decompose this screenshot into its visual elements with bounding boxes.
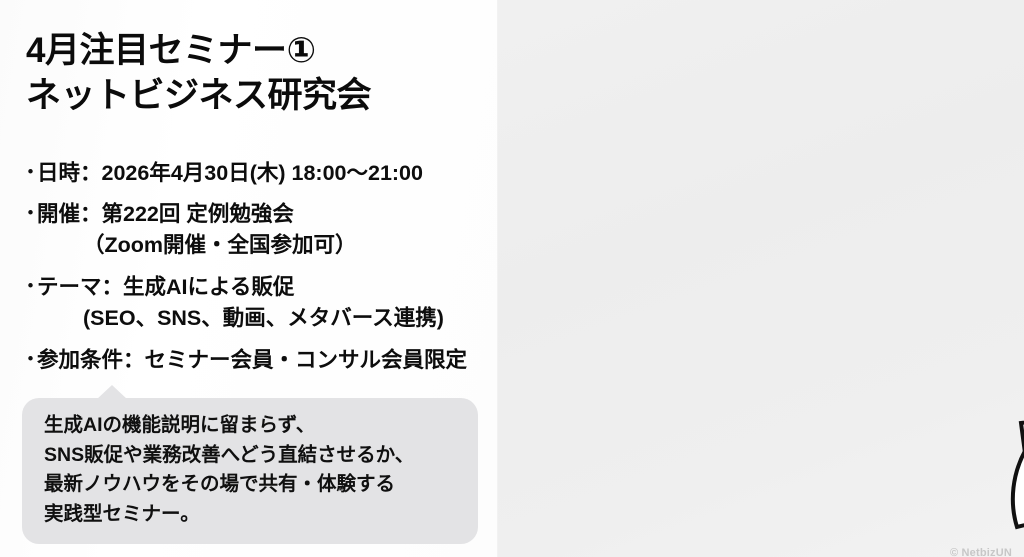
list-item-label: 開催：第222回 定例勉強会: [37, 199, 498, 229]
summary-speech-bubble: 生成AIの機能説明に留まらず、 SNS販促や業務改善へどう直結させるか、 最新ノ…: [22, 398, 478, 544]
right-visual-panel: 【ネットビジネス研究会】222回 生成AIによる販促etc 日時：2026年4月…: [498, 0, 1024, 557]
list-item: ・ テーマ：生成AIによる販促 (SEO、SNS、動画、メタバース連携): [20, 272, 498, 334]
left-text-panel: 4月注目セミナー① ネットビジネス研究会 ・ 日時：2026年4月30日(木) …: [0, 0, 498, 557]
list-item-label: 日時：2026年4月30日(木) 18:00〜21:00: [37, 158, 498, 188]
watermark: © NetbizUN: [950, 547, 1012, 557]
bullet-dot-icon: ・: [20, 345, 37, 375]
mascot-illustration: 電脳アイデア泉人: [1003, 305, 1024, 557]
bullet-dot-icon: ・: [20, 158, 37, 188]
bullet-dot-icon: ・: [20, 199, 37, 229]
summary-text-block: 生成AIの機能説明に留まらず、 SNS販促や業務改善へどう直結させるか、 最新ノ…: [44, 411, 468, 529]
headband-tail-1: [1013, 451, 1024, 527]
title-line-2: ネットビジネス研究会: [26, 73, 486, 118]
speech-bubble-tail: [96, 385, 128, 400]
list-item: ・ 参加条件：セミナー会員・コンサル会員限定: [20, 345, 498, 375]
list-item-label: テーマ：生成AIによる販促: [37, 272, 498, 302]
seminar-detail-list: ・ 日時：2026年4月30日(木) 18:00〜21:00 ・ 開催：第222…: [20, 158, 498, 386]
list-item-sublabel: （Zoom開催・全国参加可）: [37, 229, 498, 261]
list-item-sublabel: (SEO、SNS、動画、メタバース連携): [37, 302, 498, 334]
summary-line: 実践型セミナー。: [44, 500, 468, 530]
summary-line: SNS販促や業務改善へどう直結させるか、: [44, 441, 468, 471]
list-item: ・ 日時：2026年4月30日(木) 18:00〜21:00: [20, 158, 498, 188]
summary-line: 最新ノウハウをその場で共有・体験する: [44, 470, 468, 500]
mascot-headband: 電脳アイデア泉人: [1013, 400, 1024, 529]
page-title: 4月注目セミナー① ネットビジネス研究会: [26, 28, 486, 118]
list-item: ・ 開催：第222回 定例勉強会 （Zoom開催・全国参加可）: [20, 199, 498, 261]
list-item-label: 参加条件：セミナー会員・コンサル会員限定: [37, 345, 498, 375]
mascot-character: 電脳アイデア泉人: [1003, 305, 1024, 557]
bullet-dot-icon: ・: [20, 272, 37, 302]
slide-canvas: 4月注目セミナー① ネットビジネス研究会 ・ 日時：2026年4月30日(木) …: [0, 0, 1024, 557]
title-line-1: 4月注目セミナー①: [26, 28, 486, 73]
summary-line: 生成AIの機能説明に留まらず、: [44, 411, 468, 441]
